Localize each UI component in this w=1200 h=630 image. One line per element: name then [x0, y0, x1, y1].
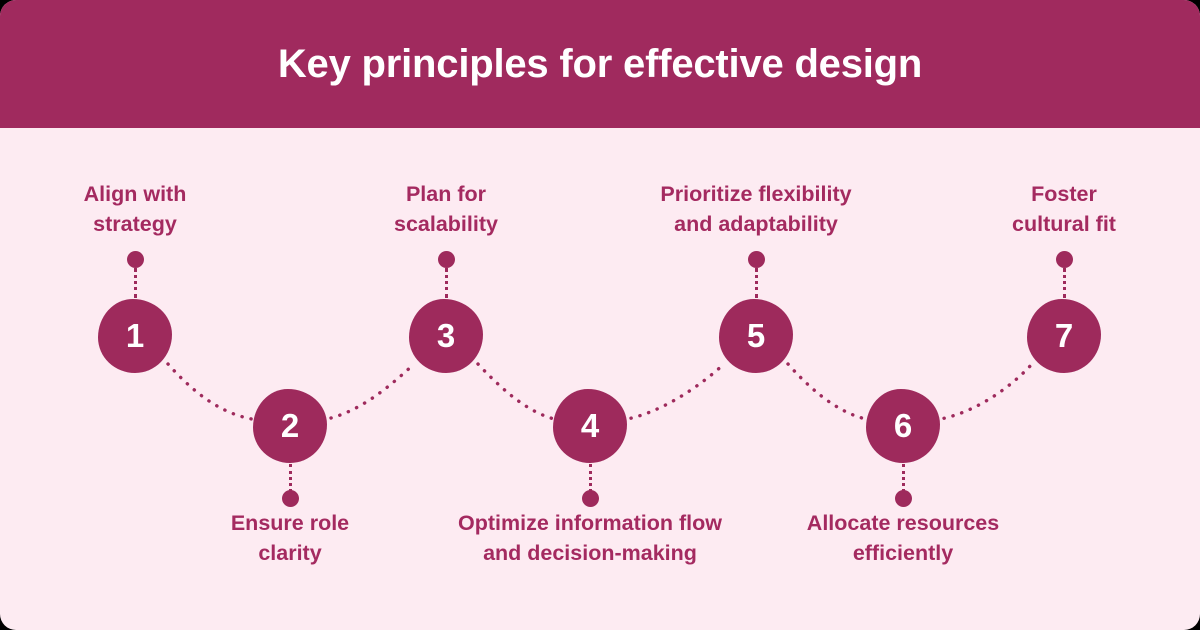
step-label-1: Align with strategy [0, 179, 285, 239]
header-band: Key principles for effective design [0, 0, 1200, 128]
connector-3-4 [478, 364, 558, 420]
label-dot-icon [1056, 251, 1073, 268]
step-blob-5[interactable]: 5 [719, 299, 793, 373]
step-blob-1[interactable]: 1 [98, 299, 172, 373]
step-number-4: 4 [581, 409, 599, 442]
step-blob-7[interactable]: 7 [1027, 299, 1101, 373]
infographic-card: Key principles for effective design Alig… [0, 0, 1200, 630]
connector-2-3 [322, 364, 414, 420]
label-stem-icon [589, 464, 595, 492]
step-number-1: 1 [126, 319, 144, 352]
label-dot-icon [127, 251, 144, 268]
step-label-6: Allocate resources efficiently [753, 508, 1053, 568]
step-number-7: 7 [1055, 319, 1073, 352]
step-flow-diagram: Align with strategy 1 2 Ensure role clar… [0, 128, 1200, 630]
label-stem-icon [289, 464, 295, 492]
step-blob-3[interactable]: 3 [409, 299, 483, 373]
step-number-2: 2 [281, 409, 299, 442]
step-label-2: Ensure role clarity [140, 508, 440, 568]
label-stem-icon [134, 268, 140, 298]
step-number-6: 6 [894, 409, 912, 442]
step-label-5: Prioritize flexibility and adaptability [606, 179, 906, 239]
step-number-5: 5 [747, 319, 765, 352]
label-stem-icon [902, 464, 908, 492]
step-blob-4[interactable]: 4 [553, 389, 627, 463]
label-dot-icon [582, 490, 599, 507]
step-label-4: Optimize information flow and decision-m… [440, 508, 740, 568]
label-stem-icon [1063, 268, 1069, 298]
label-stem-icon [755, 268, 761, 298]
step-label-3: Plan for scalability [296, 179, 596, 239]
connector-4-5 [622, 364, 724, 420]
label-dot-icon [282, 490, 299, 507]
label-dot-icon [895, 490, 912, 507]
step-blob-6[interactable]: 6 [866, 389, 940, 463]
step-number-3: 3 [437, 319, 455, 352]
connector-6-7 [935, 364, 1032, 420]
step-blob-2[interactable]: 2 [253, 389, 327, 463]
connector-1-2 [168, 364, 258, 420]
label-stem-icon [445, 268, 451, 298]
label-dot-icon [438, 251, 455, 268]
connector-5-6 [788, 364, 871, 420]
page-title: Key principles for effective design [278, 44, 922, 84]
step-label-7: Foster cultural fit [914, 179, 1200, 239]
label-dot-icon [748, 251, 765, 268]
